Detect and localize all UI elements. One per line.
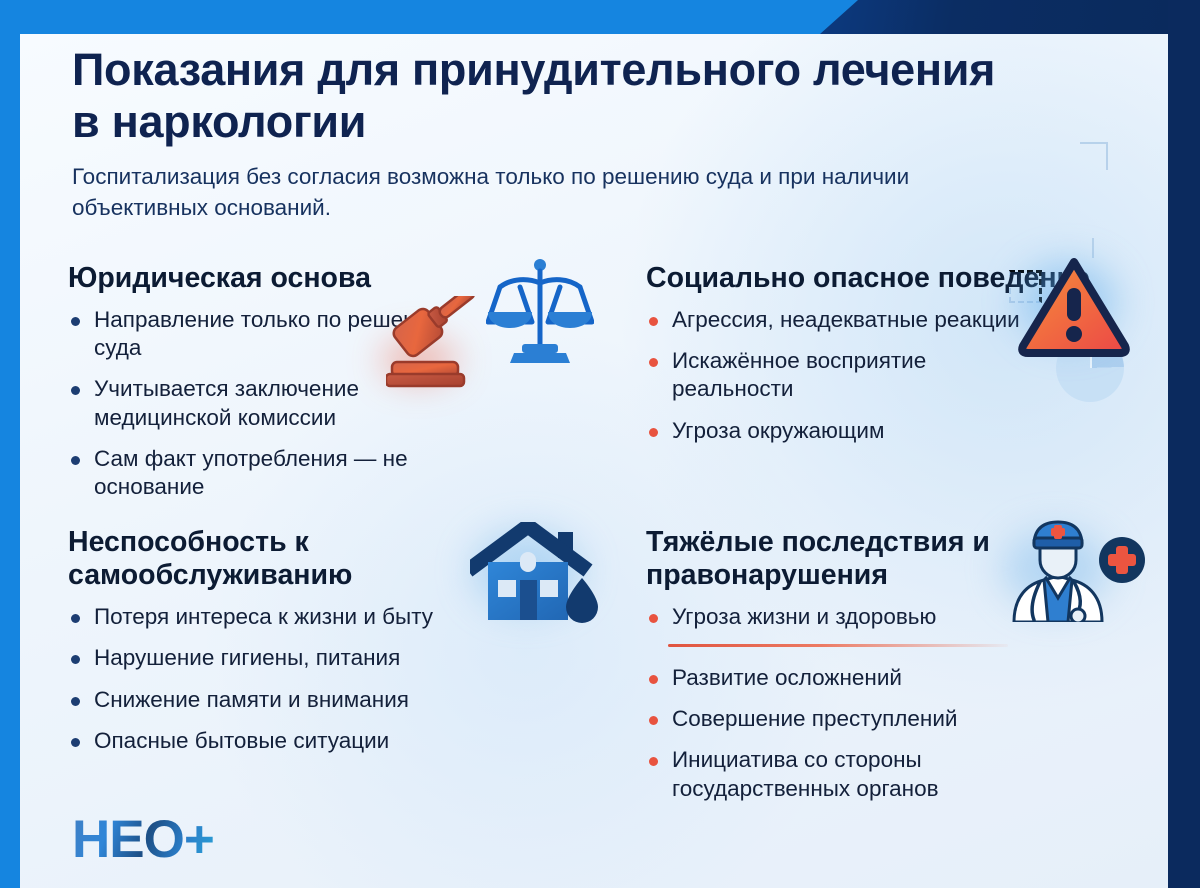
section-heading: Юридическая основа [68,262,488,296]
left-blue-band [0,0,20,888]
section-self-care-inability: Неспособность к самообслуживанию Потеря … [68,526,646,803]
brand-logo: НЕО+ [72,813,214,866]
right-navy-band [1168,0,1200,888]
section-bullet-list: Агрессия, неадекватные реакции Искажённо… [646,306,1046,445]
list-item: Угроза окружающим [646,417,1046,445]
infographic-poster: Показания для принудительного лечения в … [0,0,1200,888]
top-navy-diagonal-band [820,0,1200,34]
scales-icon [486,256,594,368]
list-item: Совершение преступлений [646,705,1066,733]
warning-triangle-icon [1014,250,1134,362]
sections-grid: Юридическая основа Направление только по… [68,262,1128,803]
section-severe-consequences: Тяжёлые последствия и правонарушения Угр… [646,526,1128,803]
content-card: Показания для принудительного лечения в … [20,34,1168,888]
top-blue-band [0,0,880,34]
house-icon [470,522,602,626]
poster-header: Показания для принудительного лечения в … [72,44,1012,223]
list-item: Инициатива со стороны государственных ор… [646,746,1066,803]
section-bullet-list: Потеря интереса к жизни и быту Нарушение… [68,603,498,755]
list-item: Нарушение гигиены, питания [68,644,498,672]
logo-text: НЕО+ [72,813,214,866]
section-divider [668,644,1008,647]
list-item: Снижение памяти и внимания [68,686,498,714]
section-heading: Неспособность к самообслуживанию [68,526,488,593]
list-item: Развитие осложнений [646,664,1066,692]
page-title: Показания для принудительного лечения в … [72,44,1012,148]
list-item: Потеря интереса к жизни и быту [68,603,498,631]
medical-cross-badge-icon [1099,537,1145,583]
list-item: Сам факт употребления — не основание [68,445,498,502]
page-subtitle: Госпитализация без согласия возможна тол… [72,162,1002,222]
section-legal-basis: Юридическая основа Направление только по… [68,262,646,502]
gavel-icon [386,296,496,388]
list-item: Искажённое восприятие реальности [646,347,1046,404]
doctor-icon [996,516,1146,622]
section-bullet-list: Развитие осложнений Совершение преступле… [646,664,1066,803]
corner-bracket-decor-icon [1080,142,1108,170]
section-socially-dangerous-behavior: Социально опасное поведение Агрессия, не… [646,262,1128,502]
list-item: Опасные бытовые ситуации [68,727,498,755]
list-item: Агрессия, неадекватные реакции [646,306,1046,334]
